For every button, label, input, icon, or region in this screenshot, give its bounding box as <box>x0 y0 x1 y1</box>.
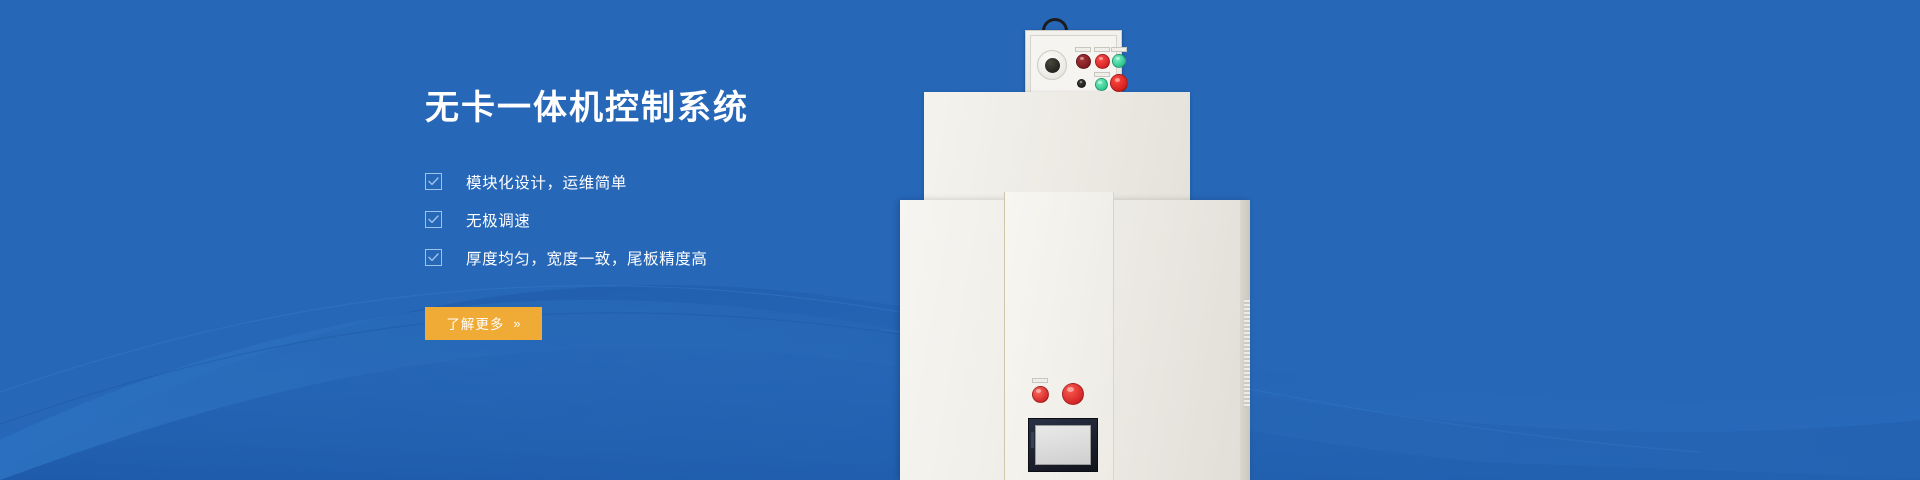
list-item: 模块化设计，运维简单 <box>425 171 1045 193</box>
hero-banner: 无卡一体机控制系统 模块化设计，运维简单 无极调速 <box>0 0 1920 480</box>
learn-more-button[interactable]: 了解更多 » <box>425 307 542 340</box>
feature-label: 模块化设计，运维简单 <box>466 171 627 193</box>
cabinet-indicator-small[interactable] <box>1032 386 1049 403</box>
rotary-selector-knob <box>1045 58 1060 73</box>
knob-black-small[interactable] <box>1077 79 1086 88</box>
feature-label: 无极调速 <box>466 209 530 231</box>
checkbox-checked-icon <box>425 211 442 228</box>
hmi-touchscreen-bezel <box>1028 418 1098 472</box>
indicator-dark-red-button[interactable] <box>1076 54 1091 69</box>
learn-more-label: 了解更多 <box>446 313 504 333</box>
hmi-side-keys <box>1031 432 1034 448</box>
list-item: 无极调速 <box>425 209 1045 231</box>
control-box-faceplate <box>1030 35 1117 95</box>
hero-copy-block: 无卡一体机控制系统 模块化设计，运维简单 无极调速 <box>425 88 1045 340</box>
hmi-touchscreen-display[interactable] <box>1035 425 1091 465</box>
indicator-green-button[interactable] <box>1112 54 1126 68</box>
chevron-double-right-icon: » <box>513 317 520 330</box>
emergency-stop-button[interactable] <box>1110 74 1128 92</box>
cabinet-vent-strip <box>1244 298 1250 408</box>
checkbox-checked-icon <box>425 249 442 266</box>
cabinet-indicator-large[interactable] <box>1062 383 1084 405</box>
button-label-plate <box>1075 47 1091 52</box>
page-title: 无卡一体机控制系统 <box>425 88 1045 129</box>
list-item: 厚度均匀，宽度一致，尾板精度高 <box>425 247 1045 269</box>
checkbox-checked-icon <box>425 173 442 190</box>
feature-label: 厚度均匀，宽度一致，尾板精度高 <box>466 247 708 269</box>
indicator-label-plate <box>1032 378 1048 383</box>
button-green[interactable] <box>1095 78 1108 91</box>
feature-list: 模块化设计，运维简单 无极调速 厚度均匀，宽度一致，尾板精度高 <box>425 171 1045 269</box>
rotary-selector-icon[interactable] <box>1037 50 1067 80</box>
indicator-red-button[interactable] <box>1095 54 1110 69</box>
button-label-plate <box>1094 47 1110 52</box>
button-label-plate <box>1094 72 1110 77</box>
button-label-plate <box>1111 47 1127 52</box>
